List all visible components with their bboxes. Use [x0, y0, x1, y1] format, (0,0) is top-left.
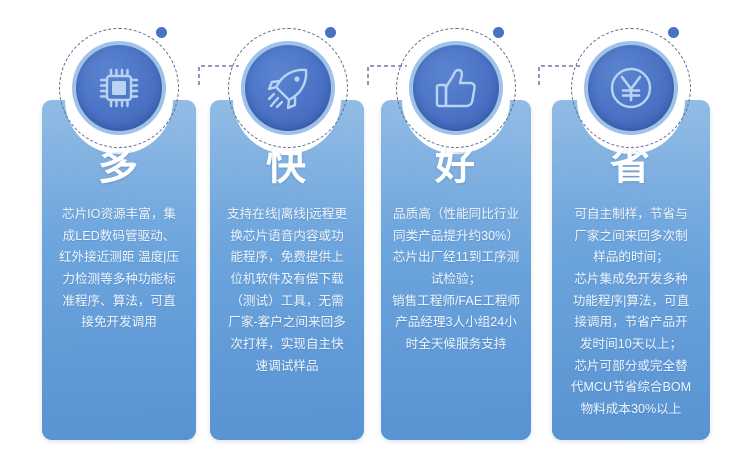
feature-card-2[interactable]: 快 支持在线|离线|远程更 换芯片语音内容或功 能程序，免费提供上 位机软件及有…	[210, 100, 364, 440]
card-headline: 多	[42, 146, 196, 186]
card-headline: 好	[381, 146, 531, 186]
feature-card-3[interactable]: 好 品质高（性能同比行业 同类产品提升约30%） 芯片出厂经11到工序测 试检验…	[381, 100, 531, 440]
yuan-currency-icon	[607, 64, 655, 112]
card-body-text: 可自主制样，节省与 厂家之间来回多次制 样品的时间； 芯片集成免开发多种 功能程…	[562, 204, 700, 421]
badge-1[interactable]	[59, 28, 179, 148]
infographic-stage: 多 芯片IO资源丰富，集 成LED数码管驱动、 红外接近测距 温度|压 力检测等…	[0, 0, 750, 471]
badge-disc	[245, 45, 331, 131]
card-body-text: 支持在线|离线|远程更 换芯片语音内容或功 能程序，免费提供上 位机软件及有偿下…	[220, 204, 354, 377]
thumbs-up-icon	[434, 66, 478, 110]
badge-2[interactable]	[228, 28, 348, 148]
badge-disc	[588, 45, 674, 131]
ring-dot	[156, 27, 167, 38]
card-body-text: 芯片IO资源丰富，集 成LED数码管驱动、 红外接近测距 温度|压 力检测等多种…	[52, 204, 186, 334]
feature-card-1[interactable]: 多 芯片IO资源丰富，集 成LED数码管驱动、 红外接近测距 温度|压 力检测等…	[42, 100, 196, 440]
badge-disc	[76, 45, 162, 131]
ring-dot	[493, 27, 504, 38]
ring-dot	[668, 27, 679, 38]
card-body-text: 品质高（性能同比行业 同类产品提升约30%） 芯片出厂经11到工序测 试检验； …	[391, 204, 521, 356]
badge-disc	[413, 45, 499, 131]
chip-icon	[97, 66, 141, 110]
rocket-icon	[265, 65, 311, 111]
ring-dot	[325, 27, 336, 38]
badge-4[interactable]	[571, 28, 691, 148]
card-headline: 快	[210, 146, 364, 186]
card-headline: 省	[552, 146, 710, 186]
badge-3[interactable]	[396, 28, 516, 148]
feature-card-4[interactable]: 省 可自主制样，节省与 厂家之间来回多次制 样品的时间； 芯片集成免开发多种 功…	[552, 100, 710, 440]
